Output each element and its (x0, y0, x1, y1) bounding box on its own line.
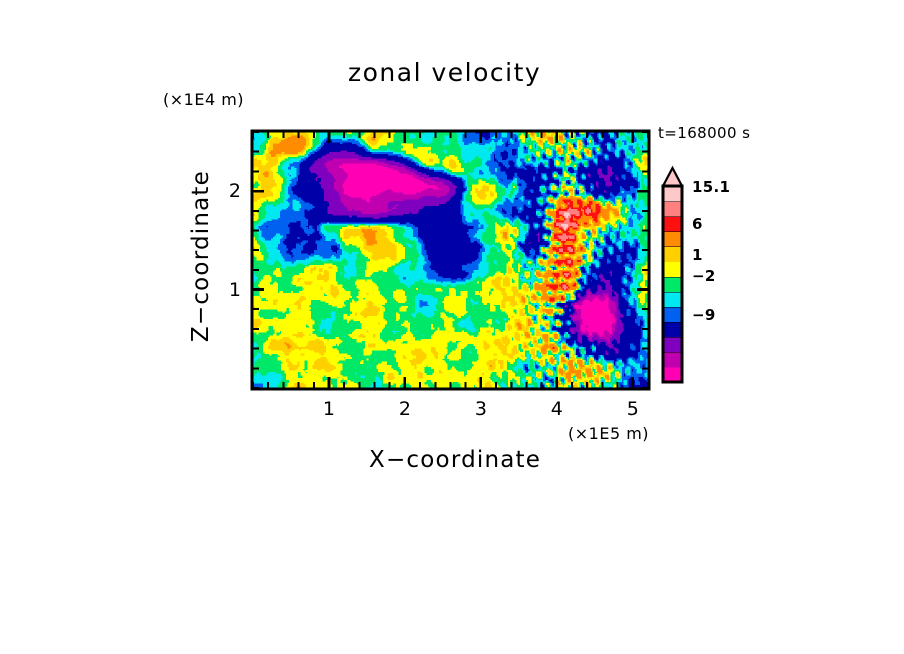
colorbar (0, 0, 904, 654)
colorbar-tick-label-0: 15.1 (692, 178, 730, 196)
x-tick-label-5: 5 (627, 398, 639, 420)
colorbar-tick-label-1: 6 (692, 215, 703, 233)
colorbar-tick-label-2: 1 (692, 246, 703, 264)
x-axis-title: X−coordinate (369, 447, 541, 473)
time-annotation: t=168000 s (658, 124, 750, 142)
x-tick-label-3: 3 (475, 398, 487, 420)
x-tick-label-2: 2 (399, 398, 411, 420)
colorbar-tick-label-3: −2 (692, 267, 716, 285)
contour-plot (0, 0, 904, 654)
z-tick-label-1: 1 (219, 279, 241, 301)
x-axis-unit-label: (×1E5 m) (568, 424, 649, 443)
z-axis-title: Z−coordinate (188, 170, 214, 342)
x-tick-label-1: 1 (323, 398, 335, 420)
page-title: zonal velocity (348, 58, 541, 87)
z-tick-label-2: 2 (219, 180, 241, 202)
contour-field (253, 132, 648, 388)
axis-frame (252, 131, 649, 389)
x-tick-label-4: 4 (551, 398, 563, 420)
figure-canvas: zonal velocity (×1E4 m) (×1E5 m) X−coord… (0, 0, 904, 654)
z-axis-unit-label: (×1E4 m) (163, 90, 244, 109)
colorbar-tick-label-4: −9 (692, 306, 716, 324)
